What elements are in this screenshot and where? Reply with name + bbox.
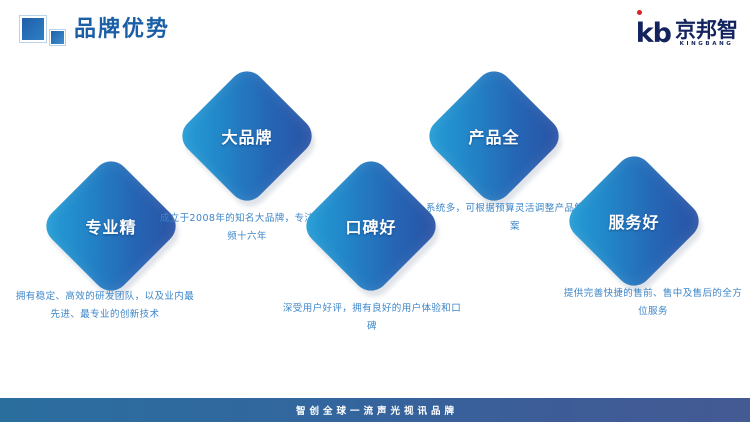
- logo-red-dot-icon: [637, 10, 642, 15]
- advantage-diamond-2[interactable]: 大品牌: [196, 85, 298, 187]
- advantage-diamond-3[interactable]: 口碑好: [320, 175, 422, 277]
- decorative-square-small-icon: [50, 30, 65, 45]
- diamond-label: 专业精: [60, 175, 162, 277]
- advantage-diamond-4[interactable]: 产品全: [443, 85, 545, 187]
- advantage-diamond-5[interactable]: 服务好: [583, 170, 685, 272]
- diamond-label: 产品全: [443, 85, 545, 187]
- logo-pinyin: KINGBANG: [680, 42, 734, 47]
- company-logo: kb 京邦智 KINGBANG: [636, 13, 738, 47]
- logo-chinese-name: 京邦智: [675, 19, 738, 41]
- logo-chinese-block: 京邦智 KINGBANG: [675, 19, 738, 48]
- page-title: 品牌优势: [74, 15, 170, 45]
- advantage-caption-5: 提供完善快捷的售前、售中及售后的全方位服务: [563, 285, 743, 321]
- diamond-label: 服务好: [583, 170, 685, 272]
- advantage-caption-3: 深受用户好评，拥有良好的用户体验和口碑: [282, 300, 462, 336]
- advantage-diamond-1[interactable]: 专业精: [60, 175, 162, 277]
- diamond-label: 大品牌: [196, 85, 298, 187]
- advantage-caption-1: 拥有稳定、高效的研发团队，以及业内最先进、最专业的创新技术: [15, 288, 195, 324]
- slide-header: 品牌优势 kb 京邦智 KINGBANG: [0, 0, 750, 62]
- decorative-square-large-icon: [20, 16, 46, 42]
- logo-mark-text: kb: [636, 20, 671, 47]
- footer-slogan: 智创全球一流声光视讯品牌: [292, 403, 458, 417]
- slide-canvas: 品牌优势 kb 京邦智 KINGBANG 专业精 拥有稳定、高效的研发团队，以及…: [0, 0, 750, 422]
- diamond-label: 口碑好: [320, 175, 422, 277]
- slide-footer: 智创全球一流声光视讯品牌: [0, 396, 750, 422]
